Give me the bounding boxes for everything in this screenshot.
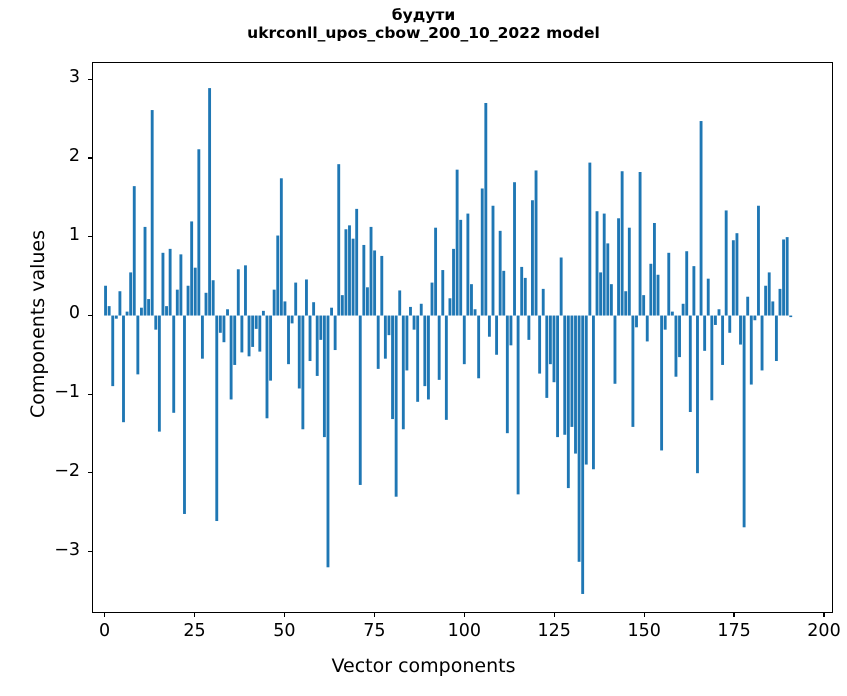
bar bbox=[753, 316, 756, 321]
bar bbox=[341, 295, 344, 315]
bar bbox=[136, 316, 139, 375]
bar bbox=[466, 214, 469, 316]
bar bbox=[298, 316, 301, 389]
bar bbox=[786, 237, 789, 315]
bar bbox=[477, 316, 480, 379]
bar bbox=[309, 316, 312, 361]
chart-title-line-2: ukrconll_upos_cbow_200_10_2022 model bbox=[0, 24, 847, 42]
bar bbox=[606, 243, 609, 315]
bar bbox=[312, 302, 315, 315]
bar bbox=[474, 309, 477, 315]
bar bbox=[481, 188, 484, 315]
bar bbox=[233, 316, 236, 365]
bar bbox=[470, 284, 473, 315]
bar bbox=[563, 316, 566, 435]
bar bbox=[732, 240, 735, 315]
x-tick-mark bbox=[284, 613, 285, 617]
bar bbox=[527, 316, 530, 340]
x-tick-mark bbox=[194, 613, 195, 617]
bar bbox=[327, 316, 330, 568]
bar bbox=[452, 249, 455, 316]
bar bbox=[276, 236, 279, 316]
bar bbox=[118, 291, 121, 315]
bar bbox=[725, 210, 728, 315]
bar bbox=[305, 279, 308, 315]
bar bbox=[775, 316, 778, 361]
x-tick-label: 0 bbox=[65, 621, 145, 641]
bar bbox=[122, 316, 125, 423]
y-tick-mark bbox=[88, 551, 92, 552]
bar bbox=[187, 286, 190, 316]
bar bbox=[409, 307, 412, 316]
y-tick-mark bbox=[88, 236, 92, 237]
bar bbox=[316, 316, 319, 376]
bar bbox=[667, 253, 670, 316]
bar-series-canvas bbox=[93, 63, 832, 612]
x-tick-label: 200 bbox=[784, 621, 847, 641]
bar bbox=[538, 316, 541, 374]
bar bbox=[115, 316, 118, 319]
bar bbox=[398, 290, 401, 315]
x-tick-label: 100 bbox=[424, 621, 504, 641]
bar bbox=[169, 249, 172, 316]
bar bbox=[413, 316, 416, 330]
bar bbox=[370, 227, 373, 316]
bar bbox=[624, 291, 627, 315]
bar bbox=[542, 289, 545, 316]
bar bbox=[151, 110, 154, 315]
bar bbox=[779, 289, 782, 316]
x-tick-mark bbox=[733, 613, 734, 617]
bar bbox=[445, 316, 448, 420]
bar bbox=[556, 316, 559, 438]
x-tick-mark bbox=[104, 613, 105, 617]
bar bbox=[736, 233, 739, 315]
bar bbox=[692, 266, 695, 315]
bar bbox=[517, 316, 520, 495]
bar bbox=[330, 308, 333, 316]
bar bbox=[269, 316, 272, 381]
bar bbox=[438, 316, 441, 380]
bar bbox=[423, 316, 426, 387]
bar bbox=[506, 316, 509, 434]
bar bbox=[581, 316, 584, 594]
bar bbox=[147, 299, 150, 315]
bar bbox=[739, 316, 742, 345]
bar bbox=[240, 316, 243, 353]
bar bbox=[646, 316, 649, 342]
bar bbox=[380, 256, 383, 316]
bar bbox=[714, 316, 717, 325]
bar bbox=[660, 316, 663, 451]
bar bbox=[509, 316, 512, 346]
bar bbox=[215, 316, 218, 521]
bar bbox=[484, 103, 487, 316]
bar bbox=[682, 304, 685, 316]
bar bbox=[126, 312, 129, 316]
bar bbox=[226, 309, 229, 315]
bar bbox=[197, 149, 200, 315]
x-axis-label: Vector components bbox=[0, 655, 847, 677]
bar bbox=[402, 316, 405, 430]
x-tick-label: 75 bbox=[334, 621, 414, 641]
plot-area bbox=[92, 62, 833, 613]
bar bbox=[420, 304, 423, 316]
bar bbox=[280, 178, 283, 315]
x-tick-mark bbox=[374, 613, 375, 617]
bar bbox=[639, 172, 642, 316]
bar bbox=[599, 272, 602, 315]
bar bbox=[628, 228, 631, 316]
bar bbox=[144, 227, 147, 316]
y-tick-mark bbox=[88, 315, 92, 316]
bar bbox=[395, 316, 398, 497]
bar bbox=[129, 272, 132, 315]
bar bbox=[301, 316, 304, 430]
bar bbox=[230, 316, 233, 400]
bar bbox=[111, 316, 114, 387]
bar bbox=[560, 258, 563, 316]
bar bbox=[287, 316, 290, 365]
y-tick-mark bbox=[88, 394, 92, 395]
bar bbox=[585, 316, 588, 465]
bar bbox=[431, 283, 434, 316]
bar bbox=[488, 316, 491, 337]
bar bbox=[492, 206, 495, 316]
bar bbox=[553, 316, 556, 383]
bar bbox=[222, 316, 225, 343]
bar bbox=[459, 220, 462, 316]
bar bbox=[212, 280, 215, 315]
bar bbox=[244, 265, 247, 315]
bar bbox=[359, 316, 362, 485]
bar bbox=[319, 316, 322, 340]
bar bbox=[294, 283, 297, 316]
bar bbox=[782, 239, 785, 315]
bar bbox=[789, 316, 792, 318]
bar bbox=[262, 311, 265, 316]
bar bbox=[334, 316, 337, 351]
bar bbox=[696, 316, 699, 474]
bar bbox=[746, 297, 749, 316]
x-tick-mark bbox=[554, 613, 555, 617]
bar bbox=[355, 209, 358, 316]
bar bbox=[366, 287, 369, 315]
bar bbox=[219, 316, 222, 333]
x-tick-mark bbox=[823, 613, 824, 617]
bar bbox=[610, 284, 613, 315]
bar bbox=[172, 316, 175, 413]
bar bbox=[574, 316, 577, 454]
bar bbox=[456, 170, 459, 316]
bar bbox=[689, 316, 692, 412]
bar bbox=[570, 316, 573, 427]
bar bbox=[678, 316, 681, 358]
bar bbox=[337, 164, 340, 315]
bar bbox=[348, 225, 351, 315]
bar bbox=[603, 214, 606, 316]
bar bbox=[707, 279, 710, 316]
chart-title: будути ukrconll_upos_cbow_200_10_2022 mo… bbox=[0, 6, 847, 43]
bar bbox=[642, 295, 645, 315]
bar bbox=[750, 316, 753, 385]
bar bbox=[391, 316, 394, 420]
bar bbox=[743, 316, 746, 528]
bar bbox=[283, 301, 286, 315]
bar bbox=[710, 316, 713, 401]
bar bbox=[617, 218, 620, 315]
bar bbox=[441, 270, 444, 315]
bar bbox=[255, 316, 258, 329]
bar bbox=[653, 223, 656, 316]
x-tick-mark bbox=[464, 613, 465, 617]
bar bbox=[771, 301, 774, 315]
bar bbox=[176, 290, 179, 316]
bar bbox=[373, 250, 376, 315]
bar bbox=[621, 171, 624, 315]
bar bbox=[248, 316, 251, 357]
bar bbox=[104, 286, 107, 316]
bar bbox=[675, 316, 678, 377]
y-axis-label: Components values bbox=[27, 74, 49, 574]
bar bbox=[377, 316, 380, 369]
bar bbox=[631, 316, 634, 427]
bar bbox=[273, 290, 276, 316]
y-tick-mark bbox=[88, 472, 92, 473]
bar bbox=[596, 211, 599, 315]
bar bbox=[179, 254, 182, 315]
bar bbox=[657, 275, 660, 316]
bar bbox=[567, 316, 570, 489]
bar bbox=[140, 308, 143, 316]
bar bbox=[614, 316, 617, 384]
bar bbox=[291, 316, 294, 324]
bar bbox=[158, 316, 161, 432]
bar bbox=[703, 316, 706, 351]
bar bbox=[764, 286, 767, 316]
bar bbox=[728, 316, 731, 333]
bar bbox=[162, 253, 165, 316]
bar bbox=[671, 312, 674, 316]
bar bbox=[531, 200, 534, 315]
bar bbox=[635, 316, 638, 328]
bar bbox=[108, 306, 111, 315]
bar bbox=[757, 206, 760, 316]
bar bbox=[362, 245, 365, 316]
bar bbox=[685, 251, 688, 315]
bar bbox=[405, 316, 408, 371]
bar bbox=[384, 316, 387, 359]
matplotlib-figure: будути ukrconll_upos_cbow_200_10_2022 mo… bbox=[0, 0, 847, 696]
bar bbox=[208, 88, 211, 315]
chart-title-line-1: будути bbox=[0, 6, 847, 24]
x-tick-label: 50 bbox=[244, 621, 324, 641]
bar bbox=[352, 239, 355, 316]
y-tick-mark bbox=[88, 79, 92, 80]
bar bbox=[190, 221, 193, 315]
bar bbox=[344, 229, 347, 315]
bar bbox=[524, 278, 527, 316]
bar bbox=[251, 316, 254, 347]
bar bbox=[502, 271, 505, 316]
bar bbox=[165, 306, 168, 315]
bar bbox=[183, 316, 186, 514]
x-tick-label: 150 bbox=[604, 621, 684, 641]
y-tick-mark bbox=[88, 157, 92, 158]
bar bbox=[700, 121, 703, 316]
bar bbox=[266, 316, 269, 419]
bar bbox=[520, 267, 523, 316]
bar bbox=[545, 316, 548, 398]
bar bbox=[549, 316, 552, 365]
bar bbox=[388, 316, 391, 336]
x-tick-label: 125 bbox=[514, 621, 594, 641]
bar bbox=[718, 309, 721, 315]
bar bbox=[768, 272, 771, 315]
bar bbox=[499, 231, 502, 316]
bar bbox=[463, 316, 466, 365]
bar bbox=[427, 316, 430, 400]
bar bbox=[237, 269, 240, 315]
bar bbox=[416, 316, 419, 402]
bar bbox=[495, 316, 498, 355]
bar bbox=[588, 163, 591, 316]
bar bbox=[535, 170, 538, 315]
bar bbox=[205, 293, 208, 316]
bar bbox=[154, 316, 157, 330]
bar bbox=[133, 186, 136, 315]
bar bbox=[434, 228, 437, 316]
bar bbox=[201, 316, 204, 359]
bar bbox=[761, 316, 764, 371]
bar bbox=[664, 316, 667, 330]
bar bbox=[592, 316, 595, 470]
bar bbox=[721, 316, 724, 365]
bar bbox=[258, 316, 261, 352]
bar bbox=[513, 182, 516, 315]
x-tick-label: 175 bbox=[694, 621, 774, 641]
bar bbox=[323, 316, 326, 438]
x-tick-label: 25 bbox=[155, 621, 235, 641]
bar bbox=[194, 268, 197, 316]
bar bbox=[578, 316, 581, 562]
bar bbox=[649, 264, 652, 316]
x-tick-mark bbox=[644, 613, 645, 617]
bar bbox=[449, 298, 452, 315]
